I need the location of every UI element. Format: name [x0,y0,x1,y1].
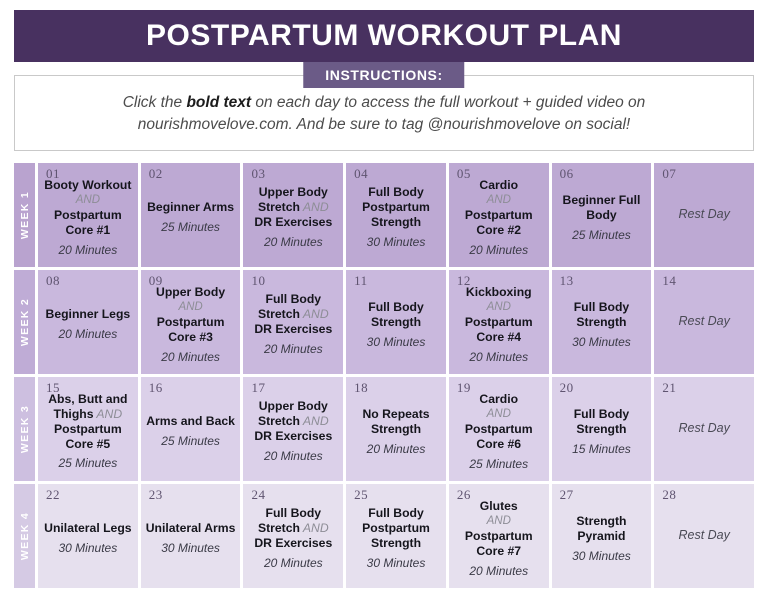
instructions-badge: INSTRUCTIONS: [303,62,464,88]
workout-duration: 20 Minutes [248,342,338,356]
day-number: 09 [149,273,163,289]
day-cell-24[interactable]: 24Full Body Stretch AND DR Exercises20 M… [243,484,343,588]
workout-duration: 20 Minutes [248,235,338,249]
workout-link[interactable]: CardioANDPostpartum Core #2 [454,178,544,238]
workout-link[interactable]: Beginner Full Body [557,193,647,223]
day-number: 27 [560,487,574,503]
day-content: Beginner Legs20 Minutes [43,301,133,341]
day-cell-17[interactable]: 17Upper Body Stretch AND DR Exercises20 … [243,377,343,481]
day-content: Beginner Full Body25 Minutes [557,187,647,242]
day-cell-07[interactable]: 07Rest Day [654,163,754,267]
day-cell-19[interactable]: 19CardioANDPostpartum Core #625 Minutes [449,377,549,481]
day-content: CardioANDPostpartum Core #625 Minutes [454,386,544,471]
day-cell-21[interactable]: 21Rest Day [654,377,754,481]
day-content: KickboxingANDPostpartum Core #420 Minute… [454,279,544,364]
week-label-1: WEEK 1 [14,163,35,267]
day-number: 25 [354,487,368,503]
workout-title-primary: Cardio [479,392,518,406]
week-label-text: WEEK 4 [19,512,31,560]
day-content: Full Body Strength30 Minutes [351,294,441,349]
workout-and-connector: AND [300,200,329,214]
day-content: CardioANDPostpartum Core #220 Minutes [454,172,544,257]
day-content: Unilateral Arms30 Minutes [146,515,236,555]
day-number: 02 [149,166,163,182]
day-content: Full Body Strength15 Minutes [557,401,647,456]
day-number: 23 [149,487,163,503]
workout-duration: 20 Minutes [43,327,133,341]
day-content: Upper BodyANDPostpartum Core #320 Minute… [146,279,236,364]
workout-duration: 20 Minutes [454,243,544,257]
workout-title-primary: Strength Pyramid [576,514,626,543]
workout-duration: 25 Minutes [146,220,236,234]
workout-duration: 20 Minutes [248,556,338,570]
day-number: 20 [560,380,574,396]
day-number: 21 [662,380,676,396]
workout-link[interactable]: GlutesANDPostpartum Core #7 [454,499,544,559]
day-content: Full Body Stretch AND DR Exercises20 Min… [248,500,338,570]
page-header-bar: POSTPARTUM WORKOUT PLAN [14,10,754,62]
workout-duration: 15 Minutes [557,442,647,456]
day-cell-22[interactable]: 22Unilateral Legs30 Minutes [38,484,138,588]
day-number: 18 [354,380,368,396]
workout-and-connector: AND [454,407,544,422]
workout-title-primary: Full Body Postpartum Strength [362,506,430,550]
day-content: Full Body Postpartum Strength30 Minutes [351,500,441,570]
week-row: WEEK 422Unilateral Legs30 Minutes23Unila… [14,484,754,588]
workout-title-secondary: DR Exercises [248,429,338,444]
workout-title-primary: Cardio [479,178,518,192]
day-content: GlutesANDPostpartum Core #720 Minutes [454,493,544,578]
workout-title-secondary: DR Exercises [248,322,338,337]
day-number: 10 [251,273,265,289]
day-cell-12[interactable]: 12KickboxingANDPostpartum Core #420 Minu… [449,270,549,374]
day-number: 22 [46,487,60,503]
workout-duration: 20 Minutes [248,449,338,463]
workout-title-secondary: DR Exercises [248,536,338,551]
day-number: 28 [662,487,676,503]
day-cell-27[interactable]: 27Strength Pyramid30 Minutes [552,484,652,588]
workout-link[interactable]: Unilateral Legs [43,521,133,536]
workout-link[interactable]: Full Body Strength [351,300,441,330]
workout-title-primary: Beginner Arms [147,200,234,214]
workout-and-connector: AND [300,307,329,321]
rest-day-label: Rest Day [678,528,729,542]
workout-title-primary: Kickboxing [466,285,532,299]
day-content: Upper Body Stretch AND DR Exercises20 Mi… [248,179,338,249]
week-label-text: WEEK 3 [19,405,31,453]
day-number: 11 [354,273,368,289]
workout-duration: 25 Minutes [146,434,236,448]
workout-link[interactable]: Beginner Arms [146,200,236,215]
workout-title-primary: Full Body Postpartum Strength [362,185,430,229]
workout-duration: 20 Minutes [146,350,236,364]
workout-and-connector: AND [43,193,133,208]
day-content: Beginner Arms25 Minutes [146,194,236,234]
day-number: 03 [251,166,265,182]
instructions-section: INSTRUCTIONS: Click the bold text on eac… [14,75,754,151]
workout-link[interactable]: Full Body Strength [557,300,647,330]
day-content: Arms and Back25 Minutes [146,408,236,448]
day-content: Strength Pyramid30 Minutes [557,508,647,563]
workout-link[interactable]: No Repeats Strength [351,407,441,437]
workout-title-secondary: DR Exercises [248,215,338,230]
day-cell-04[interactable]: 04Full Body Postpartum Strength30 Minute… [346,163,446,267]
workout-title-secondary: Postpartum Core #4 [465,315,533,344]
workout-duration: 20 Minutes [351,442,441,456]
workout-duration: 30 Minutes [557,549,647,563]
day-content: Unilateral Legs30 Minutes [43,515,133,555]
workout-title-primary: Full Body Strength [368,300,424,329]
day-content: No Repeats Strength20 Minutes [351,401,441,456]
workout-link[interactable]: Full Body Postpartum Strength [351,506,441,551]
day-number: 07 [662,166,676,182]
rest-day-label: Rest Day [678,207,729,221]
day-number: 14 [662,273,676,289]
instructions-line-2: nourishmovelove.com. And be sure to tag … [33,114,735,136]
day-cell-13[interactable]: 13Full Body Strength30 Minutes [552,270,652,374]
workout-link[interactable]: Abs, Butt and Thighs AND Postpartum Core… [43,392,133,452]
day-cell-03[interactable]: 03Upper Body Stretch AND DR Exercises20 … [243,163,343,267]
week-label-2: WEEK 2 [14,270,35,374]
workout-duration: 30 Minutes [351,335,441,349]
day-content: Abs, Butt and Thighs AND Postpartum Core… [43,386,133,471]
day-number: 24 [251,487,265,503]
workout-title-primary: Glutes [480,499,518,513]
workout-and-connector: AND [300,521,329,535]
rest-day-label: Rest Day [678,314,729,328]
workout-title-primary: Arms and Back [146,414,235,428]
day-number: 01 [46,166,60,182]
rest-day-label: Rest Day [678,421,729,435]
workout-duration: 20 Minutes [454,564,544,578]
workout-duration: 25 Minutes [43,456,133,470]
workout-and-connector: AND [454,300,544,315]
day-content: Full Body Strength30 Minutes [557,294,647,349]
workout-link[interactable]: Upper Body Stretch AND DR Exercises [248,399,338,444]
workout-duration: 30 Minutes [43,541,133,555]
workout-title-secondary: Postpartum Core #7 [465,529,533,558]
instructions-bold-text: bold text [186,94,251,111]
workout-duration: 30 Minutes [146,541,236,555]
workout-link[interactable]: Upper Body Stretch AND DR Exercises [248,185,338,230]
day-cell-18[interactable]: 18No Repeats Strength20 Minutes [346,377,446,481]
workout-link[interactable]: Unilateral Arms [146,521,236,536]
workout-link[interactable]: Upper BodyANDPostpartum Core #3 [146,285,236,345]
workout-and-connector: AND [300,414,329,428]
workout-title-secondary: Postpartum Core #1 [54,208,122,237]
day-cell-26[interactable]: 26GlutesANDPostpartum Core #720 Minutes [449,484,549,588]
workout-duration: 30 Minutes [557,335,647,349]
day-content: Full Body Postpartum Strength30 Minutes [351,179,441,249]
day-number: 06 [560,166,574,182]
week-row: WEEK 315Abs, Butt and Thighs AND Postpar… [14,377,754,481]
day-number: 12 [457,273,471,289]
day-cell-08[interactable]: 08Beginner Legs20 Minutes [38,270,138,374]
workout-link[interactable]: Arms and Back [146,414,236,429]
day-number: 16 [149,380,163,396]
workout-title-primary: No Repeats Strength [362,407,429,436]
day-cell-05[interactable]: 05CardioANDPostpartum Core #220 Minutes [449,163,549,267]
day-number: 04 [354,166,368,182]
day-cell-15[interactable]: 15Abs, Butt and Thighs AND Postpartum Co… [38,377,138,481]
day-number: 13 [560,273,574,289]
workout-and-connector: AND [454,193,544,208]
workout-link[interactable]: CardioANDPostpartum Core #6 [454,392,544,452]
workout-link[interactable]: Beginner Legs [43,307,133,322]
workout-duration: 20 Minutes [43,243,133,257]
day-cell-02[interactable]: 02Beginner Arms25 Minutes [141,163,241,267]
day-number: 15 [46,380,60,396]
workout-link[interactable]: Full Body Stretch AND DR Exercises [248,292,338,337]
workout-title-secondary: Postpartum Core #5 [43,422,133,452]
day-cell-16[interactable]: 16Arms and Back25 Minutes [141,377,241,481]
day-number: 05 [457,166,471,182]
day-cell-10[interactable]: 10Full Body Stretch AND DR Exercises20 M… [243,270,343,374]
week-label-text: WEEK 1 [19,191,31,239]
workout-title-primary: Beginner Legs [46,307,131,321]
week-row: WEEK 208Beginner Legs20 Minutes09Upper B… [14,270,754,374]
week-label-4: WEEK 4 [14,484,35,588]
day-number: 26 [457,487,471,503]
workout-and-connector: AND [454,514,544,529]
instructions-line1-post: on each day to access the full workout +… [251,94,645,111]
day-cell-06[interactable]: 06Beginner Full Body25 Minutes [552,163,652,267]
workout-title-primary: Unilateral Legs [44,521,131,535]
day-content: Full Body Stretch AND DR Exercises20 Min… [248,286,338,356]
calendar-grid: WEEK 101Booty WorkoutANDPostpartum Core … [14,163,754,588]
day-number: 08 [46,273,60,289]
day-cell-23[interactable]: 23Unilateral Arms30 Minutes [141,484,241,588]
instructions-line1-pre: Click the [123,94,187,111]
day-content: Booty WorkoutANDPostpartum Core #120 Min… [43,172,133,257]
day-cell-20[interactable]: 20Full Body Strength15 Minutes [552,377,652,481]
page-title: POSTPARTUM WORKOUT PLAN [146,19,622,53]
workout-and-connector: AND [146,300,236,315]
workout-plan-page: POSTPARTUM WORKOUT PLAN INSTRUCTIONS: Cl… [0,10,768,603]
day-cell-11[interactable]: 11Full Body Strength30 Minutes [346,270,446,374]
day-cell-14[interactable]: 14Rest Day [654,270,754,374]
workout-duration: 25 Minutes [557,228,647,242]
workout-title-primary: Upper Body [156,285,225,299]
workout-duration: 30 Minutes [351,235,441,249]
workout-link[interactable]: Full Body Postpartum Strength [351,185,441,230]
workout-link[interactable]: Full Body Strength [557,407,647,437]
workout-title-secondary: Postpartum Core #2 [465,208,533,237]
day-content: Upper Body Stretch AND DR Exercises20 Mi… [248,393,338,463]
workout-title-primary: Full Body Strength [574,407,630,436]
workout-link[interactable]: Strength Pyramid [557,514,647,544]
workout-title-secondary: Postpartum Core #6 [465,422,533,451]
day-cell-25[interactable]: 25Full Body Postpartum Strength30 Minute… [346,484,446,588]
workout-link[interactable]: Full Body Stretch AND DR Exercises [248,506,338,551]
workout-duration: 20 Minutes [454,350,544,364]
workout-title-primary: Unilateral Arms [146,521,236,535]
day-number: 17 [251,380,265,396]
week-label-text: WEEK 2 [19,298,31,346]
workout-title-primary: Full Body Strength [574,300,630,329]
workout-duration: 30 Minutes [351,556,441,570]
workout-duration: 25 Minutes [454,457,544,471]
workout-and-connector: AND [94,407,123,421]
day-number: 19 [457,380,471,396]
instructions-line-1: Click the bold text on each day to acces… [33,92,735,114]
week-row: WEEK 101Booty WorkoutANDPostpartum Core … [14,163,754,267]
workout-link[interactable]: Booty WorkoutANDPostpartum Core #1 [43,178,133,238]
week-label-3: WEEK 3 [14,377,35,481]
workout-link[interactable]: KickboxingANDPostpartum Core #4 [454,285,544,345]
day-cell-01[interactable]: 01Booty WorkoutANDPostpartum Core #120 M… [38,163,138,267]
day-cell-28[interactable]: 28Rest Day [654,484,754,588]
workout-title-secondary: Postpartum Core #3 [157,315,225,344]
workout-title-primary: Beginner Full Body [563,193,641,222]
day-cell-09[interactable]: 09Upper BodyANDPostpartum Core #320 Minu… [141,270,241,374]
